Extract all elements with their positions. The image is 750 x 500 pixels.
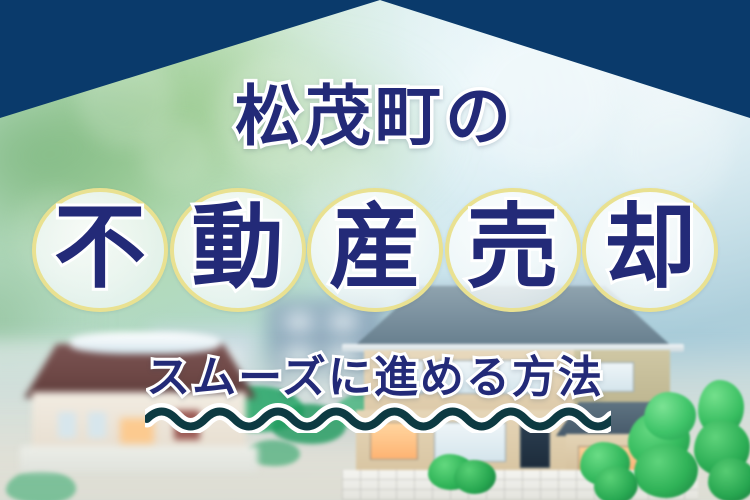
headline-line-1: 松茂町の <box>0 84 750 150</box>
headline-oval: 売 <box>445 188 581 312</box>
headline-oval: 動 <box>170 188 306 312</box>
headline-oval-char: 却 <box>604 202 696 294</box>
headline-oval: 不 <box>32 188 168 312</box>
wavy-underline-icon <box>145 399 611 433</box>
headline-oval-char: 不 <box>54 202 146 294</box>
headline-oval-char: 動 <box>191 202 283 294</box>
headline-oval-row: 不 動 産 売 却 <box>32 188 718 312</box>
headline-oval: 産 <box>307 188 443 312</box>
headline-oval: 却 <box>582 188 718 312</box>
banner-hero: 松茂町の 不 動 産 売 却 スムーズに進める方法 <box>0 0 750 500</box>
headline-oval-char: 産 <box>329 202 421 294</box>
headline-line-3: スムーズに進める方法 <box>0 356 750 400</box>
headline-oval-char: 売 <box>466 202 558 294</box>
